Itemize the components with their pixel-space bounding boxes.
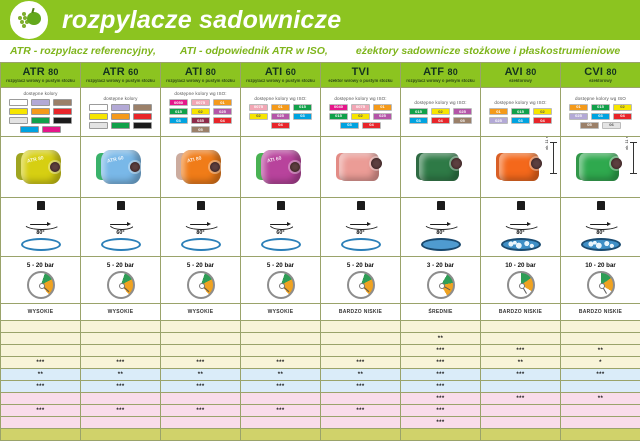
star-cell-9-3 [241,429,321,441]
color-chip[interactable]: 03 [409,117,428,124]
drift-rating-label: ŚREDNIE [401,309,480,315]
spray-footprint-icon [181,238,221,251]
star-rating: *** [81,360,160,366]
color-chip[interactable] [53,108,72,115]
header-banner: rozpylacze sadownicze [0,0,640,40]
star-rating: *** [161,384,240,390]
subtitle-legend: ATR - rozpylacz referencyjny, ATI - odpo… [0,40,640,62]
colors-label: dostępne kolory wg ISO: [321,96,400,101]
color-chip[interactable]: 02 [533,108,552,115]
spray-angle-label: 80° [490,230,552,236]
color-chip[interactable]: 02 [191,108,210,115]
spray-pattern-diagram: 80° [330,200,392,254]
star-cell-9-1 [81,429,161,441]
rating-cell-6: BARDZO NISKIE [481,304,561,321]
nozzle-image: ATI 80 [174,146,228,188]
rating-cell-7: BARDZO NISKIE [561,304,640,321]
color-chip[interactable] [133,122,152,129]
nozzle-photo-cell-2: ATI 80 [161,137,241,198]
star-rating: ** [481,360,560,366]
nozzle-photo-cell-6: ok. 11 mm [481,137,561,198]
star-rating: ** [161,372,240,378]
star-cell-5-2: *** [161,381,241,393]
star-cell-8-0 [1,417,81,429]
pressure-cell-4: 5 - 20 bar [321,257,401,304]
color-chip[interactable]: 01 [373,104,392,111]
angle-arrow-icon [30,222,51,226]
star-rating: ** [241,372,320,378]
star-cell-8-2 [161,417,241,429]
star-rating: * [561,360,640,366]
color-chip[interactable]: 025 [569,113,588,120]
nozzle-photo-cell-1: ATR 60 [81,137,161,198]
gauge-hub [199,283,205,289]
color-chip[interactable]: 02 [613,104,632,111]
data-row-4: ******************* [1,369,640,381]
color-chip[interactable]: 01 [213,99,232,106]
nozzle-tip-icon [517,201,525,210]
nozzle-orifice [611,158,622,169]
nozzle-image: ATI 60 [254,146,308,188]
star-cell-2-0 [1,345,81,357]
gauge-hub [359,283,365,289]
star-cell-4-5: *** [401,369,481,381]
star-cell-1-2 [161,333,241,345]
pressure-cell-2: 5 - 20 bar [161,257,241,304]
colors-label: dostępne kolory [81,96,160,101]
color-chip-list: 01015020250304 [481,108,560,124]
star-rating: *** [481,372,560,378]
subtitle-atr: ATR - rozpylacz referencyjny, [10,45,156,57]
nozzle-tip-icon [357,201,365,210]
gauge-hub [39,283,45,289]
star-rating: *** [561,372,640,378]
color-chip[interactable]: 0040 [329,104,348,111]
color-chip[interactable]: 01 [569,104,588,111]
angle-arrow-icon [430,222,451,226]
dimension-label: ok. 11 mm [544,137,549,151]
star-cell-5-0: *** [1,381,81,393]
apple-grapes-logo-icon [10,1,48,39]
page-title: rozpylacze sadownicze [62,8,341,33]
column-header-subtitle: rozpylacz wirowy o pustym stożku [241,79,320,83]
color-cell-0: dostępne kolory [1,88,81,137]
star-cell-8-4 [321,417,401,429]
spray-angle-label: 60° [90,230,152,236]
color-chip[interactable] [89,113,108,120]
nozzle-orifice [210,162,220,172]
rating-cell-4: BARDZO NISKIE [321,304,401,321]
pressure-gauge-icon [187,271,215,299]
pressure-cell-1: 5 - 20 bar [81,257,161,304]
pressure-range-label: 5 - 20 bar [241,262,320,269]
drift-rating-label: BARDZO NISKIE [321,309,400,315]
color-chip[interactable]: 03 [169,117,188,124]
pressure-gauge-icon [507,271,535,299]
color-chip[interactable]: 025 [489,117,508,124]
nozzle-tip-icon [277,201,285,210]
color-chip[interactable]: 04 [362,122,381,129]
color-chip[interactable]: 01 [489,108,508,115]
star-cell-1-0 [1,333,81,345]
nozzle-tip-icon [37,201,45,210]
nozzle-photo-row: ATR 80ATR 60ATI 80ATI 60ok. 11 mmok. 11 … [1,137,640,198]
color-chip[interactable] [9,117,28,124]
column-header-name: ATF 80 [401,67,480,79]
nozzle-image [494,146,548,188]
angle-arrow-icon [190,222,211,226]
spray-cone-icon [504,209,540,230]
pressure-cell-7: 10 - 20 bar [561,257,640,304]
pressure-range-label: 10 - 20 bar [481,262,560,269]
color-chip[interactable]: 025 [271,113,290,120]
colors-label: dostępne kolory [1,91,80,96]
spray-angle-label: 80° [570,230,632,236]
pressure-range-label: 5 - 20 bar [161,262,240,269]
star-cell-5-6 [481,381,561,393]
pressure-gauge-icon [587,271,615,299]
star-cell-1-4 [321,333,401,345]
color-chip[interactable] [31,99,50,106]
star-cell-6-4 [321,393,401,405]
color-chip[interactable] [53,117,72,124]
color-chip-list: 010150202503040506 [561,104,640,129]
color-chip[interactable] [89,104,108,111]
pressure-gauge-icon [427,271,455,299]
star-cell-9-5 [401,429,481,441]
spray-cone-icon [344,209,380,230]
gauge-hub [279,283,285,289]
nozzle-orifice [50,162,60,172]
star-rating: *** [161,408,240,414]
star-cell-2-7: ** [561,345,640,357]
star-cell-6-0 [1,393,81,405]
star-cell-8-7 [561,417,640,429]
rating-cell-3: WYSOKIE [241,304,321,321]
colors-label: dostępne kolory wg ISO: [481,100,560,105]
colors-label: dostępne kolory wg ISO: [401,100,480,105]
star-rating: *** [241,408,320,414]
column-header-atr-1[interactable]: ATR 60rozpylacz wirowy o pustym stożku [81,63,161,88]
rating-row: WYSOKIEWYSOKIEWYSOKIEWYSOKIEBARDZO NISKI… [1,304,640,321]
star-rating: *** [401,360,480,366]
star-cell-3-4: *** [321,357,401,369]
color-chip[interactable]: 03 [591,113,610,120]
spray-footprint-icon [421,238,461,251]
star-cell-0-6 [481,321,561,333]
color-chip-list: 0040007501015020250304 [321,104,400,129]
spray-angle-cell-6: 80° [481,198,561,257]
color-chip[interactable] [53,99,72,106]
star-rating: *** [1,384,80,390]
star-rating: *** [1,360,80,366]
spray-cone-icon [24,209,60,230]
color-chip[interactable]: 04 [271,122,290,129]
star-rating: *** [401,384,480,390]
subtitle-ati: ATI - odpowiednik ATR w ISO, [180,45,328,57]
star-cell-9-6 [481,429,561,441]
nozzle-orifice [290,162,300,172]
color-cell-1: dostępne kolory [81,88,161,137]
colors-row: dostępne kolorydostępne kolorydostępne k… [1,88,640,137]
spray-cone-icon [184,209,220,230]
column-header-atf-5[interactable]: ATF 80rozpylacz wirowy o pełnym stożku [401,63,481,88]
drift-rating-label: WYSOKIE [161,309,240,315]
pressure-gauge-icon [347,271,375,299]
star-cell-7-0: *** [1,405,81,417]
rating-cell-2: WYSOKIE [161,304,241,321]
star-cell-8-1 [81,417,161,429]
star-cell-4-0: ** [1,369,81,381]
color-chip-list [81,104,160,129]
star-cell-6-5: *** [401,393,481,405]
star-rating: *** [321,360,400,366]
pressure-cell-0: 5 - 20 bar [1,257,81,304]
color-chip[interactable]: 04 [613,113,632,120]
column-header-avi-6[interactable]: AVI 80eżektorowy [481,63,561,88]
star-rating: *** [401,420,480,426]
color-chip[interactable]: 05 [580,122,599,129]
color-chip[interactable]: 05 [191,126,210,133]
nozzle-tip-icon [437,201,445,210]
nozzle-image [414,146,468,188]
color-chip[interactable] [31,108,50,115]
star-rating: *** [401,396,480,402]
star-cell-2-2 [161,345,241,357]
spray-angle-cell-7: 80° [561,198,640,257]
nozzle-tip-icon [117,201,125,210]
color-chip[interactable] [111,113,130,120]
star-cell-1-1 [81,333,161,345]
nozzle-photo-cell-7: ok. 11 mm [561,137,640,198]
star-cell-5-4: *** [321,381,401,393]
star-cell-6-1 [81,393,161,405]
color-chip[interactable] [133,104,152,111]
color-chip[interactable]: 03 [511,117,530,124]
color-chip[interactable]: 035 [191,117,210,124]
column-header-subtitle: eżektorowy [481,79,560,83]
color-chip[interactable] [133,113,152,120]
color-chip[interactable]: 025 [373,113,392,120]
star-rating: *** [81,384,160,390]
dimension-label: ok. 11 mm [624,137,629,151]
pressure-range-label: 3 - 20 bar [401,262,480,269]
pressure-range-label: 5 - 20 bar [321,262,400,269]
rating-cell-1: WYSOKIE [81,304,161,321]
star-cell-3-3: *** [241,357,321,369]
color-chip[interactable]: 02 [351,113,370,120]
logo [0,1,58,39]
color-chip[interactable] [111,122,130,129]
color-chip[interactable] [9,108,28,115]
nozzle-tip-icon [597,201,605,210]
color-chip[interactable] [42,126,61,133]
spray-footprint-icon [501,238,541,251]
star-cell-9-7 [561,429,640,441]
star-rating: ** [561,396,640,402]
star-cell-0-7 [561,321,640,333]
data-row-9 [1,429,640,441]
color-chip[interactable]: 0075 [351,104,370,111]
color-chip[interactable]: 025 [453,108,472,115]
color-chip[interactable]: 015 [293,104,312,111]
color-chip[interactable] [9,99,28,106]
color-cell-4: dostępne kolory wg ISO:00400075010150202… [321,88,401,137]
star-rating: *** [241,360,320,366]
nozzle-orifice [130,162,140,172]
star-cell-7-3: *** [241,405,321,417]
star-cell-6-7: ** [561,393,640,405]
column-header-name: ATR 60 [81,67,160,79]
star-rating: *** [1,408,80,414]
spray-cone-icon [424,209,460,230]
color-chip[interactable] [31,117,50,124]
spray-angle-label: 80° [330,230,392,236]
color-chip-list [1,99,80,133]
star-cell-0-5 [401,321,481,333]
star-cell-5-3: *** [241,381,321,393]
color-chip[interactable]: 02 [431,108,450,115]
color-cell-5: dostępne kolory wg ISO:01502025030405 [401,88,481,137]
nozzle-comparison-table: ATR 80rozpylacz wirowy o pustym stożkuAT… [0,62,640,441]
color-chip[interactable]: 02 [249,113,268,120]
pressure-range-label: 5 - 20 bar [81,262,160,269]
star-rating: *** [161,360,240,366]
data-row-0 [1,321,640,333]
data-row-1: ** [1,333,640,345]
pressure-cell-3: 5 - 20 bar [241,257,321,304]
spray-angle-row: 80°60°80°60°80°80°80°80° [1,198,640,257]
subtitle-ejector: eżektory sadownicze stożkowe i płaskostr… [356,45,620,57]
color-chip[interactable]: 04 [213,117,232,124]
color-chip[interactable]: 0075 [191,99,210,106]
star-cell-6-3 [241,393,321,405]
star-cell-9-2 [161,429,241,441]
color-chip[interactable]: 025 [213,108,232,115]
pressure-range-label: 5 - 20 bar [1,262,80,269]
color-chip[interactable]: 0050 [169,99,188,106]
color-chip[interactable]: 04 [431,117,450,124]
column-header-tvi-4[interactable]: TVIeżektor wirowy o pustym stożku [321,63,401,88]
dimension-line: ok. 11 mm [548,142,558,174]
color-chip[interactable]: 05 [453,117,472,124]
column-header-subtitle: rozpylacz wirowy o pełnym stożku [401,79,480,83]
column-header-subtitle: eżektorowy [561,79,640,83]
star-cell-6-2 [161,393,241,405]
color-chip[interactable]: 015 [409,108,428,115]
star-cell-7-6 [481,405,561,417]
color-chip[interactable]: 06 [602,122,621,129]
pressure-gauge-icon [267,271,295,299]
gauge-hub [119,283,125,289]
color-chip[interactable]: 015 [591,104,610,111]
pressure-cell-5: 3 - 20 bar [401,257,481,304]
nozzle-image: ATR 80 [14,146,68,188]
star-cell-7-4: *** [321,405,401,417]
spray-angle-label: 60° [250,230,312,236]
star-cell-1-5: ** [401,333,481,345]
star-cell-3-6: ** [481,357,561,369]
column-header-ati-2[interactable]: ATI 80rozpylacz wirowy o pustym stożku [161,63,241,88]
color-cell-6: dostępne kolory wg ISO:01015020250304 [481,88,561,137]
spray-cone-icon [584,209,620,230]
star-cell-8-3 [241,417,321,429]
column-header-atr-0[interactable]: ATR 80rozpylacz wirowy o pustym stożku [1,63,81,88]
star-cell-3-0: *** [1,357,81,369]
star-rating: ** [1,372,80,378]
star-cell-0-2 [161,321,241,333]
star-cell-0-3 [241,321,321,333]
star-cell-2-5: *** [401,345,481,357]
data-row-7: ****************** [1,405,640,417]
star-rating: ** [401,336,480,342]
star-cell-5-1: *** [81,381,161,393]
data-row-2: ******** [1,345,640,357]
star-cell-7-1: *** [81,405,161,417]
column-header-cvi-7[interactable]: CVI 80eżektorowy [561,63,640,88]
star-cell-1-7 [561,333,640,345]
color-chip[interactable]: 015 [511,108,530,115]
page-root: rozpylacze sadownicze ATR - rozpylacz re… [0,0,640,416]
spray-angle-cell-5: 80° [401,198,481,257]
rating-cell-5: ŚREDNIE [401,304,481,321]
color-chip[interactable] [20,126,39,133]
column-header-name: CVI 80 [561,67,640,79]
star-cell-4-1: ** [81,369,161,381]
nozzle-orifice [531,158,542,169]
star-cell-4-6: *** [481,369,561,381]
column-header-name: AVI 80 [481,67,560,79]
star-cell-5-7 [561,381,640,393]
star-rating: *** [401,348,480,354]
nozzle-photo-cell-0: ATR 80 [1,137,81,198]
star-cell-1-3 [241,333,321,345]
spray-angle-cell-3: 60° [241,198,321,257]
color-chip[interactable]: 03 [293,113,312,120]
nozzle-photo-cell-5 [401,137,481,198]
dimension-line: ok. 11 mm [628,142,638,174]
star-rating: *** [401,408,480,414]
nozzle-photo-cell-4 [321,137,401,198]
color-chip[interactable] [111,104,130,111]
color-chip[interactable]: 01 [271,104,290,111]
header-row: ATR 80rozpylacz wirowy o pustym stożkuAT… [1,63,640,88]
star-cell-2-1 [81,345,161,357]
spray-pattern-diagram: 80° [10,200,72,254]
star-cell-3-7: * [561,357,640,369]
spray-angle-label: 80° [410,230,472,236]
pressure-gauge-icon [107,271,135,299]
angle-arrow-icon [590,222,611,226]
color-chip[interactable]: 015 [169,108,188,115]
color-chip[interactable]: 04 [533,117,552,124]
spray-pattern-diagram: 60° [250,200,312,254]
nozzle-photo-cell-3: ATI 60 [241,137,321,198]
drift-rating-label: WYSOKIE [241,309,320,315]
color-chip[interactable]: 03 [340,122,359,129]
color-chip-list: 005000750101502025030350405 [161,99,240,133]
color-chip[interactable] [89,122,108,129]
star-cell-0-4 [321,321,401,333]
color-chip[interactable]: 0075 [249,104,268,111]
drift-rating-label: BARDZO NISKIE [561,309,640,315]
colors-label: dostępne kolory wg ISO: [161,91,240,96]
column-header-ati-3[interactable]: ATI 60rozpylacz wirowy o pustym stożku [241,63,321,88]
color-chip[interactable]: 015 [329,113,348,120]
star-cell-7-2: *** [161,405,241,417]
angle-arrow-icon [270,222,291,226]
column-header-subtitle: rozpylacz wirowy o pustym stożku [161,79,240,83]
